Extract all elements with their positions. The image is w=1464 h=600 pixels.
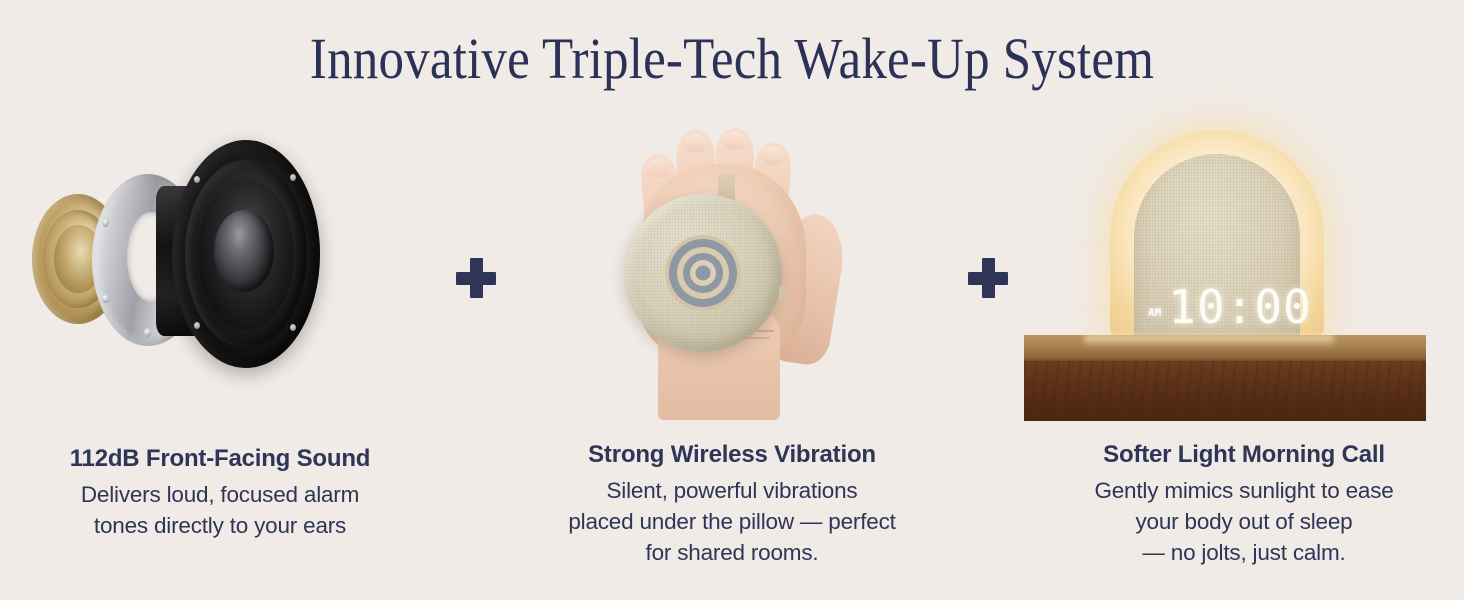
feature-body-line: for shared rooms. [512,537,952,568]
vibration-illustration [512,120,952,420]
page-title: Innovative Triple-Tech Wake-Up System [88,26,1376,92]
feature-title-vibration: Strong Wireless Vibration [512,440,952,470]
feature-body-line: — no jolts, just calm. [1024,537,1464,568]
feature-card-vibration: Strong Wireless Vibration Silent, powerf… [512,120,952,590]
clock-led-display: AM 10:00 [1148,284,1312,330]
feature-body-vibration: Silent, powerful vibrations placed under… [512,475,952,568]
plus-separator-2 [952,120,1024,590]
hand-holding-disc-icon [572,118,892,418]
plus-separator-1 [440,120,512,590]
feature-body-sound: Delivers loud, focused alarm tones direc… [0,479,440,541]
feature-body-line: Delivers loud, focused alarm [0,479,440,510]
plus-icon [968,258,1008,298]
clock-illustration: AM 10:00 [1024,120,1464,420]
caption-light: Softer Light Morning Call Gently mimics … [1024,440,1464,568]
exploded-speaker-driver-icon [18,140,318,370]
vibration-disc [624,194,782,352]
speaker-cone [172,140,320,368]
sunrise-alarm-clock-icon: AM 10:00 [1024,130,1464,420]
feature-body-light: Gently mimics sunlight to ease your body… [1024,475,1464,568]
feature-card-light: AM 10:00 Softer Light Morning Call Gentl… [1024,120,1464,590]
feature-body-line: your body out of sleep [1024,506,1464,537]
clock-meridiem: AM [1148,306,1161,319]
speaker-dust-cap [214,210,274,292]
feature-body-line: Silent, powerful vibrations [512,475,952,506]
feature-body-line: tones directly to your ears [0,510,440,541]
disc-ring [696,266,711,281]
feature-card-sound: 112dB Front-Facing Sound Delivers loud, … [0,120,440,590]
feature-body-line: placed under the pillow — perfect [512,506,952,537]
disc-side-button [779,286,786,302]
caption-vibration: Strong Wireless Vibration Silent, powerf… [512,440,952,568]
wood-shelf-front [1024,361,1426,421]
caption-sound: 112dB Front-Facing Sound Delivers loud, … [0,444,440,541]
feature-title-light: Softer Light Morning Call [1024,440,1464,470]
feature-title-sound: 112dB Front-Facing Sound [0,444,440,474]
feature-columns: 112dB Front-Facing Sound Delivers loud, … [0,120,1464,600]
feature-body-line: Gently mimics sunlight to ease [1024,475,1464,506]
clock-time: 10:00 [1168,284,1311,330]
plus-icon [456,258,496,298]
clock-fabric-face: AM 10:00 [1134,154,1300,344]
speaker-illustration [0,120,440,420]
